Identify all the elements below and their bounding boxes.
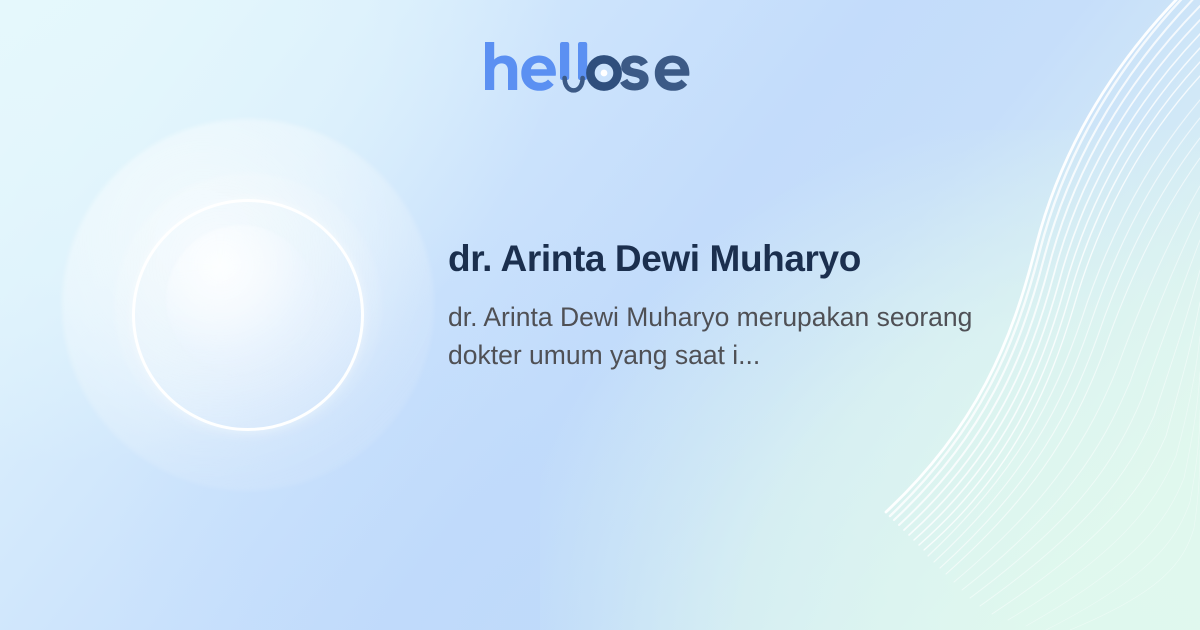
brand-logo[interactable] xyxy=(0,38,1200,98)
og-share-card: hellosehat dr. Arinta Dewi Muharyo dr. A… xyxy=(0,0,1200,630)
stethoscope-logo xyxy=(560,42,618,90)
page-description: dr. Arinta Dewi Muharyo merupakan seoran… xyxy=(448,299,993,374)
background-glow-bottom-right xyxy=(540,130,1200,630)
logo-text-dark xyxy=(620,55,689,90)
content-block: dr. Arinta Dewi Muharyo dr. Arinta Dewi … xyxy=(448,238,1008,375)
avatar-orb-sphere xyxy=(166,225,316,375)
logo-text-light xyxy=(485,42,556,91)
page-title: dr. Arinta Dewi Muharyo xyxy=(448,238,1008,279)
